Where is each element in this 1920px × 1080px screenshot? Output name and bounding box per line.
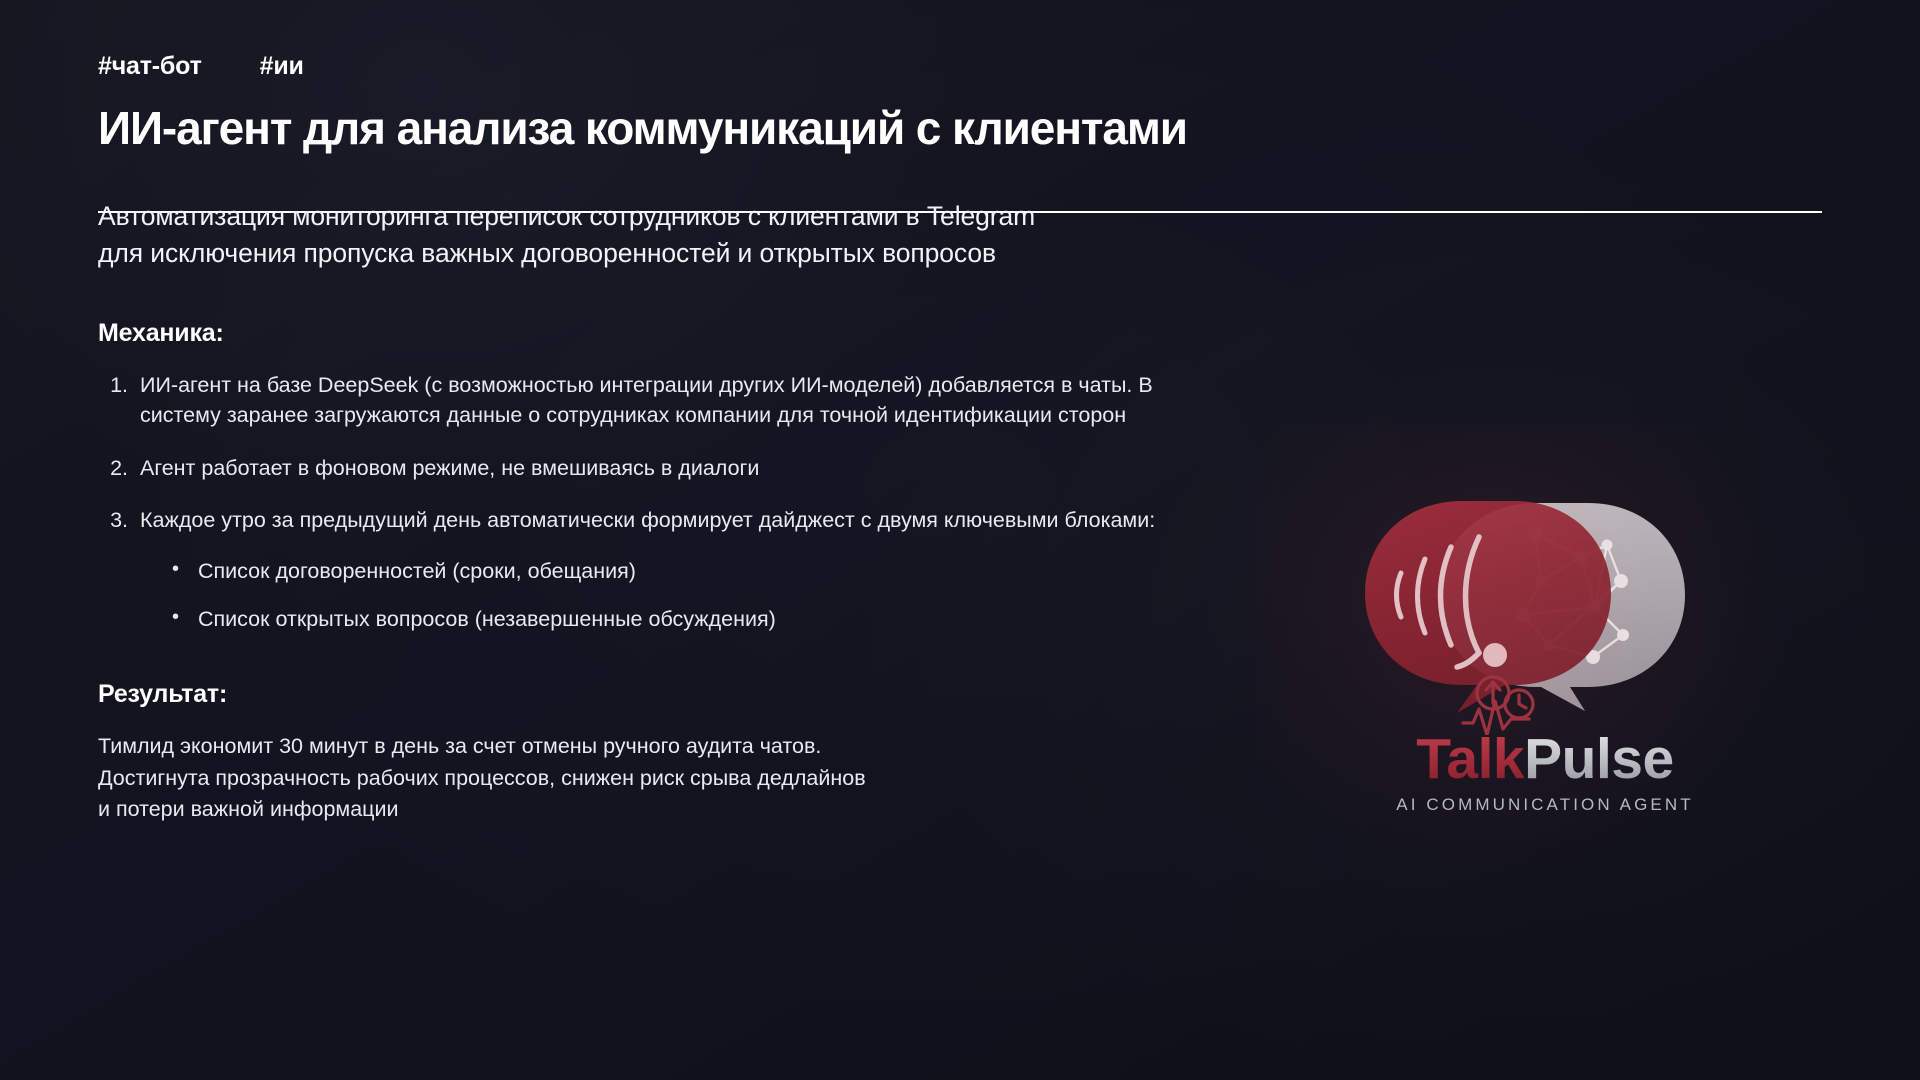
tag-ai[interactable]: #ии: [260, 52, 304, 81]
result-line-2: Достигнута прозрачность рабочих процессо…: [98, 763, 1228, 795]
page-title: ИИ-агент для анализа коммуникаций с клие…: [98, 103, 1228, 154]
logo-word-talk: Talk: [1416, 727, 1524, 791]
mechanics-subbullet: Список договоренностей (сроки, обещания): [170, 556, 1228, 586]
result-heading: Результат:: [98, 680, 1228, 709]
mechanics-subbullet-list: Список договоренностей (сроки, обещания)…: [140, 556, 1228, 634]
result-line-3: и потери важной информации: [98, 794, 1228, 826]
tag-list: #чат-бот #ии: [98, 52, 1228, 81]
mechanics-subbullet: Список открытых вопросов (незавершенные …: [170, 604, 1228, 634]
tag-chat-bot[interactable]: #чат-бот: [98, 52, 202, 81]
mechanics-step-text: Каждое утро за предыдущий день автоматич…: [140, 508, 1155, 532]
mechanics-step-text: ИИ-агент на базе DeepSeek (с возможность…: [140, 373, 1153, 428]
mechanics-step: Каждое утро за предыдущий день автоматич…: [134, 505, 1228, 634]
mechanics-heading: Механика:: [98, 319, 1228, 348]
subtitle-block: Автоматизация мониторинга переписок сотр…: [98, 198, 1228, 273]
logo-word-pulse: Pulse: [1524, 727, 1674, 791]
logo-mark: [1345, 495, 1745, 735]
subtitle-line-2: для исключения пропуска важных договорен…: [98, 235, 1228, 273]
result-block: Тимлид экономит 30 минут в день за счет …: [98, 731, 1228, 826]
mechanics-step: Агент работает в фоновом режиме, не вмеш…: [134, 453, 1228, 484]
mechanics-step-list: ИИ-агент на базе DeepSeek (с возможность…: [98, 370, 1228, 634]
subtitle-line-1: Автоматизация мониторинга переписок сотр…: [98, 198, 1228, 236]
content-column: #чат-бот #ии ИИ-агент для анализа коммун…: [98, 52, 1228, 826]
mechanics-step: ИИ-агент на базе DeepSeek (с возможность…: [134, 370, 1228, 431]
mechanics-step-text: Агент работает в фоновом режиме, не вмеш…: [140, 456, 759, 480]
talkpulse-logo: TalkPulse AI COMMUNICATION AGENT: [1345, 495, 1745, 835]
logo-wordmark: TalkPulse: [1345, 731, 1745, 788]
logo-tagline: AI COMMUNICATION AGENT: [1345, 795, 1745, 815]
clock-icon: [1505, 690, 1533, 718]
result-line-1: Тимлид экономит 30 минут в день за счет …: [98, 731, 1228, 763]
slide-root: #чат-бот #ии ИИ-агент для анализа коммун…: [0, 0, 1920, 1080]
sound-dot-icon: [1483, 643, 1507, 667]
